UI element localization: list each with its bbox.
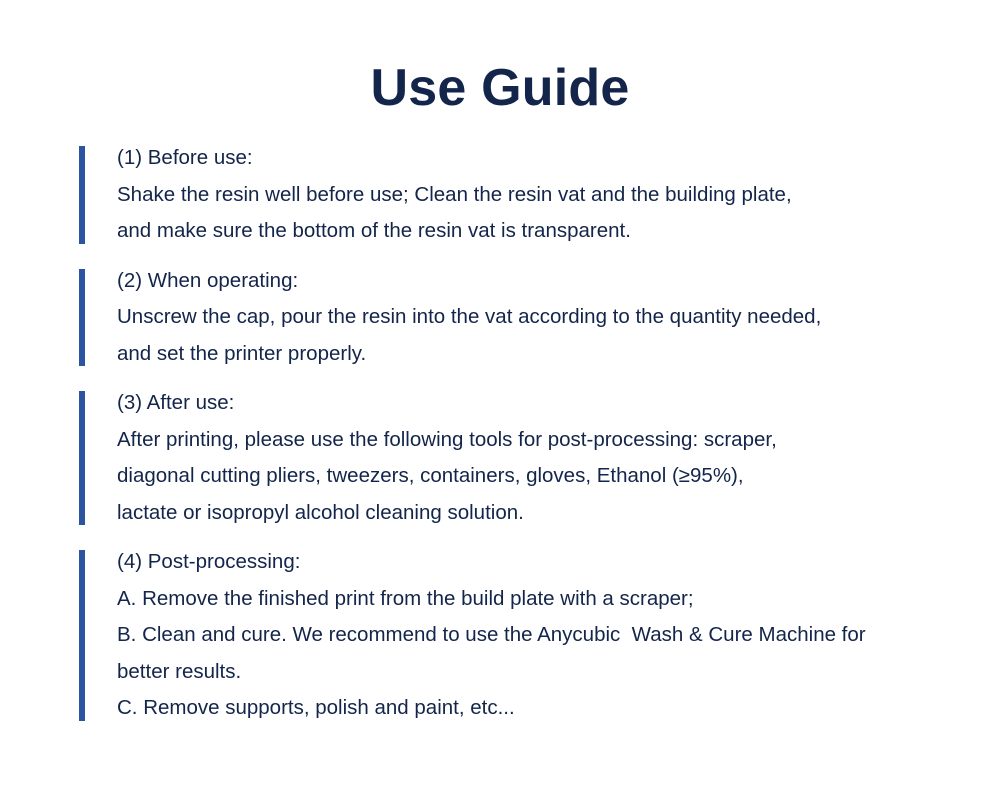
guide-section-after-use: (3) After use: After printing, please us… <box>79 385 1000 531</box>
section-line: and set the printer properly. <box>117 336 1000 373</box>
section-accent-bar <box>79 550 85 721</box>
section-line: and make sure the bottom of the resin va… <box>117 213 1000 250</box>
section-line: B. Clean and cure. We recommend to use t… <box>117 617 1000 654</box>
section-line: Shake the resin well before use; Clean t… <box>117 177 1000 214</box>
guide-section-when-operating: (2) When operating: Unscrew the cap, pou… <box>79 263 1000 373</box>
guide-sections: (1) Before use: Shake the resin well bef… <box>0 140 1000 727</box>
section-line: A. Remove the finished print from the bu… <box>117 581 1000 618</box>
section-line: diagonal cutting pliers, tweezers, conta… <box>117 458 1000 495</box>
guide-section-before-use: (1) Before use: Shake the resin well bef… <box>79 140 1000 250</box>
section-heading: (2) When operating: <box>117 263 1000 300</box>
section-line: After printing, please use the following… <box>117 422 1000 459</box>
page-title: Use Guide <box>0 0 1000 114</box>
section-heading: (4) Post-processing: <box>117 544 1000 581</box>
use-guide-page: Use Guide (1) Before use: Shake the resi… <box>0 0 1000 800</box>
section-heading: (1) Before use: <box>117 140 1000 177</box>
section-accent-bar <box>79 146 85 244</box>
guide-section-post-processing: (4) Post-processing: A. Remove the finis… <box>79 544 1000 727</box>
section-line: better results. <box>117 654 1000 691</box>
section-accent-bar <box>79 391 85 525</box>
section-accent-bar <box>79 269 85 367</box>
section-line: lactate or isopropyl alcohol cleaning so… <box>117 495 1000 532</box>
section-line: C. Remove supports, polish and paint, et… <box>117 690 1000 727</box>
section-line: Unscrew the cap, pour the resin into the… <box>117 299 1000 336</box>
section-heading: (3) After use: <box>117 385 1000 422</box>
